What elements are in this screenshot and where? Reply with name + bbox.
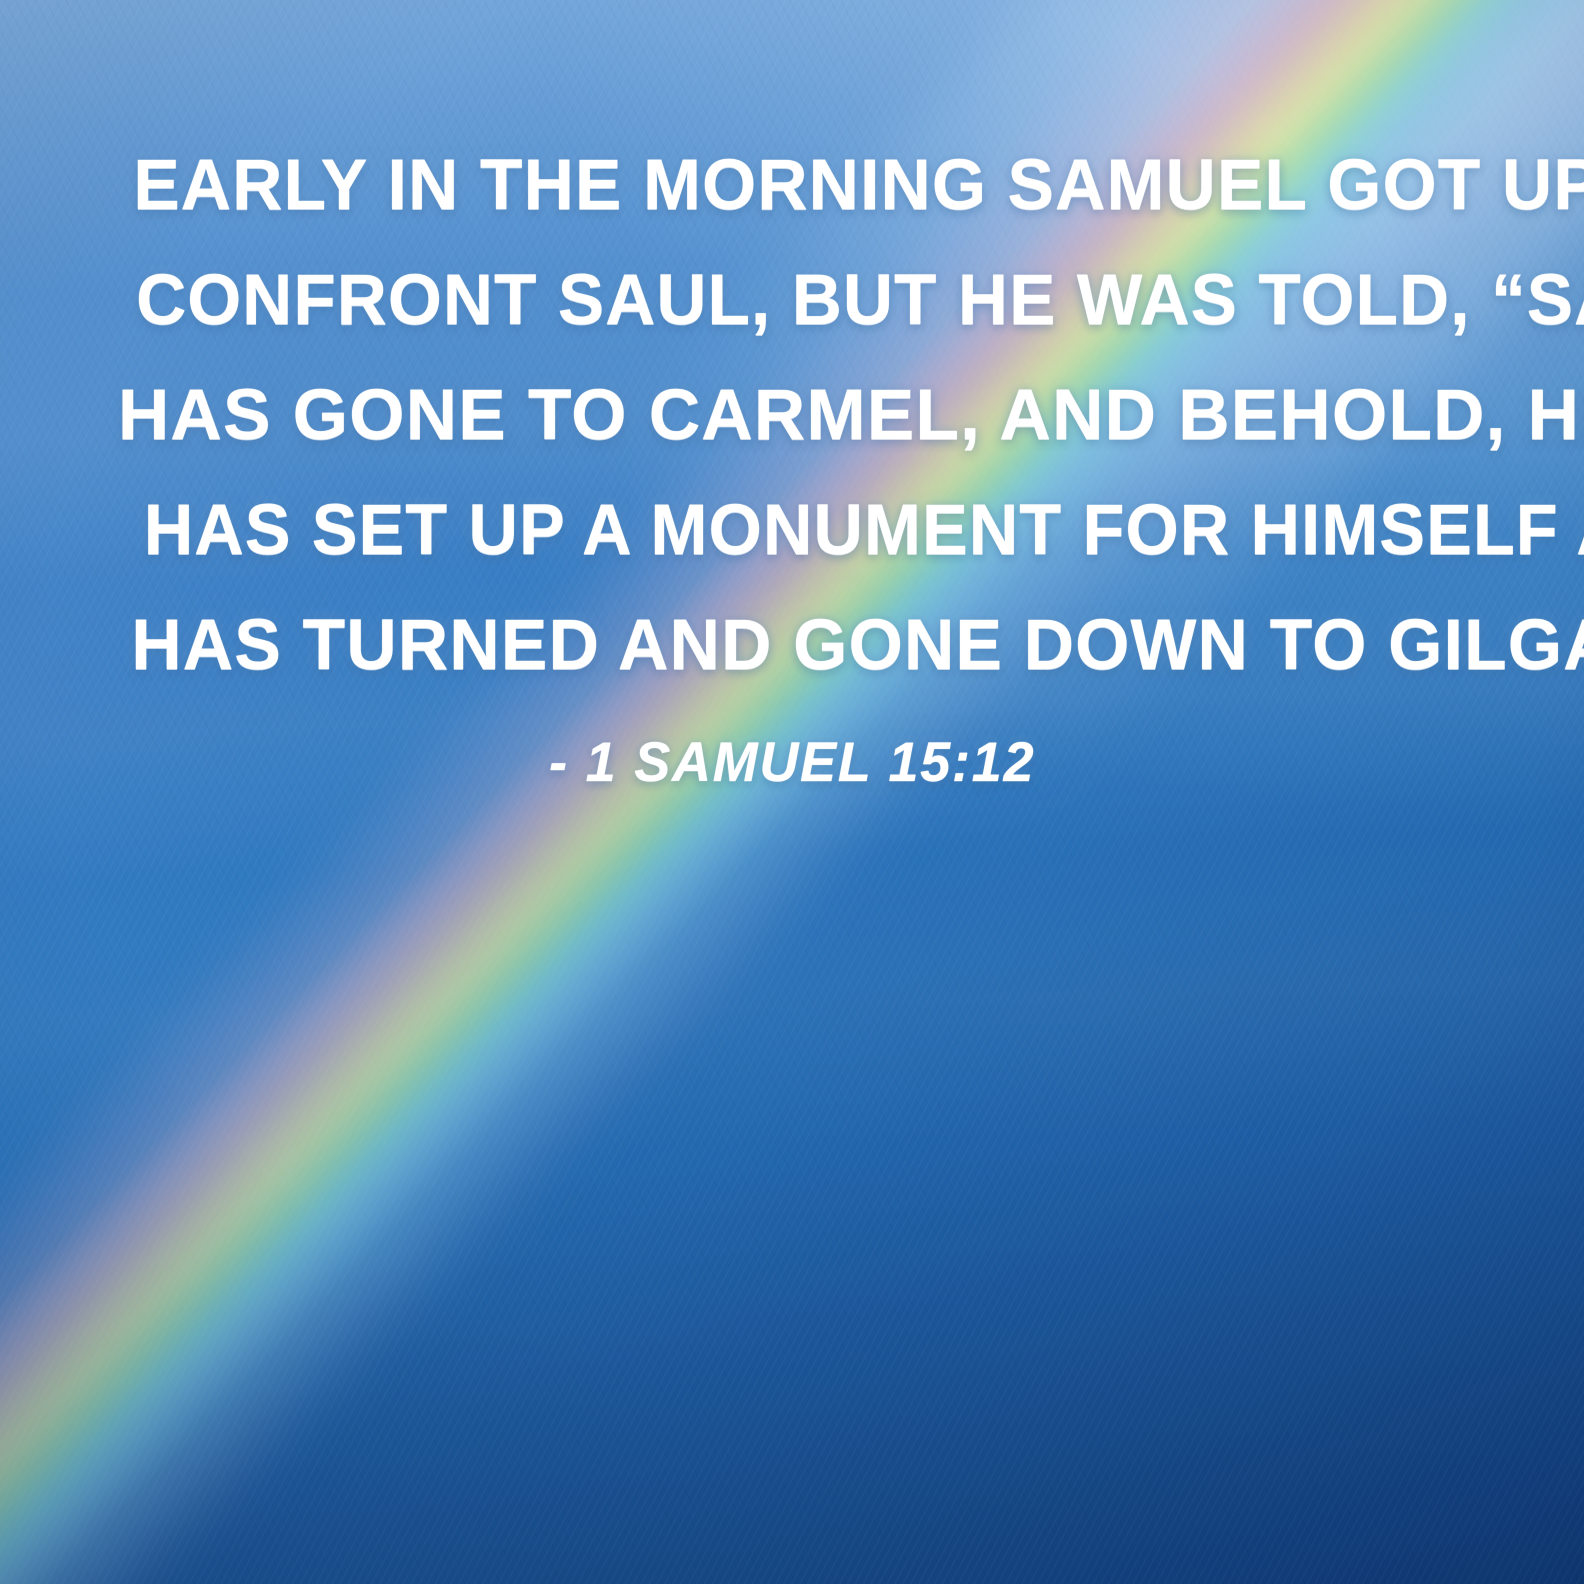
- verse-line: Early in the morning Samuel got up to: [133, 128, 1450, 243]
- verse-text-block: Early in the morning Samuel got up to co…: [0, 128, 1584, 703]
- verse-line: has turned and gone down to Gilgal.”: [131, 588, 1452, 703]
- verse-line: has set up a monument for himself and: [144, 473, 1440, 588]
- verse-image-canvas: Early in the morning Samuel got up to co…: [0, 0, 1584, 1584]
- verse-reference: - 1 Samuel 15:12: [549, 726, 1035, 798]
- verse-line: confront Saul, but he was told, “Saul: [136, 243, 1448, 358]
- verse-line: has gone to Carmel, and behold, he: [118, 358, 1466, 473]
- verse-attribution: - 1 Samuel 15:12: [0, 726, 1584, 798]
